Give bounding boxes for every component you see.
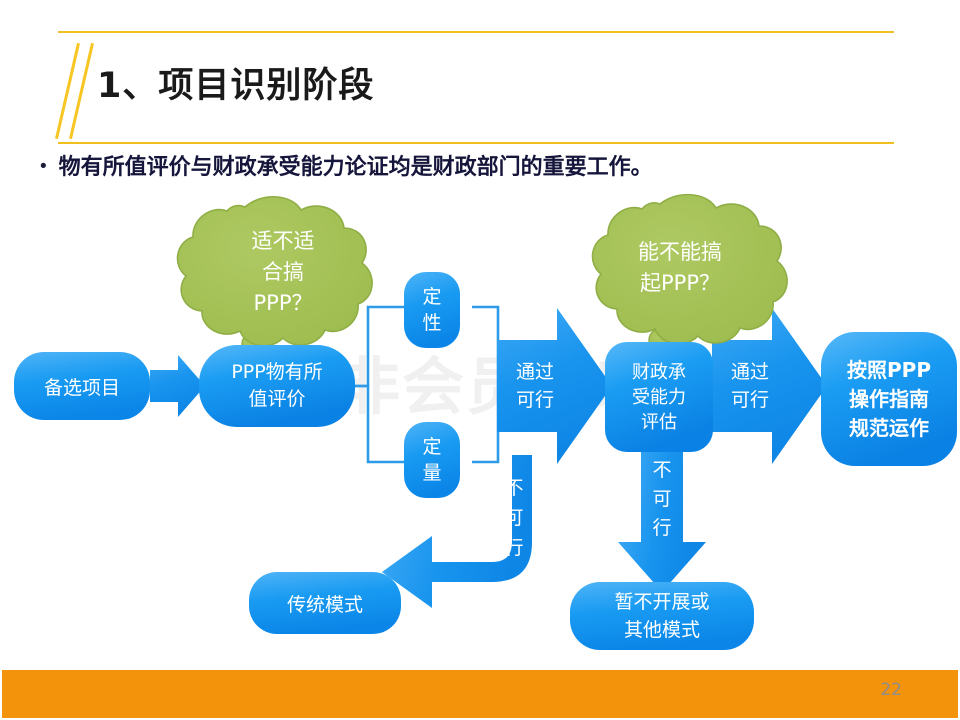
header-rule-top — [58, 31, 894, 33]
arrow-candidate-to-vfm-shape — [150, 355, 205, 417]
node-affordability-shape — [605, 342, 713, 452]
page-number: 22 — [880, 680, 902, 700]
node-qualitative-shape — [404, 272, 460, 348]
bullet-text: 物有所值评价与财政承受能力论证均是财政部门的重要工作。 — [59, 152, 653, 182]
slide-canvas: 1、项目识别阶段 • 物有所值评价与财政承受能力论证均是财政部门的重要工作。 非… — [0, 0, 960, 720]
node-vfm-shape — [199, 345, 355, 427]
node-traditional-shape — [249, 572, 401, 634]
footer-bar — [2, 670, 958, 718]
node-suspend-shape — [570, 582, 754, 650]
cloud-vfm-shape — [178, 197, 373, 366]
ppp-flowchart: 备选项目 PPP物有所 值评价 定 性 定 量 财政承 受能力 评估 按照PPP… — [0, 190, 960, 660]
bullet-dot-icon: • — [40, 152, 47, 182]
node-operate-shape — [821, 332, 957, 466]
page-title: 1、项目识别阶段 — [97, 57, 374, 108]
cloud-afford-shape — [593, 195, 788, 362]
header-rule-bottom — [58, 142, 894, 144]
decorative-slash-icon — [55, 43, 80, 139]
arrow-fail-to-suspend-shape — [618, 448, 706, 592]
arrow-pass-to-affordability-shape — [497, 308, 612, 464]
bullet-row: • 物有所值评价与财政承受能力论证均是财政部门的重要工作。 — [40, 152, 653, 182]
node-quantitative-shape — [404, 422, 460, 498]
node-candidate-shape — [14, 352, 150, 420]
